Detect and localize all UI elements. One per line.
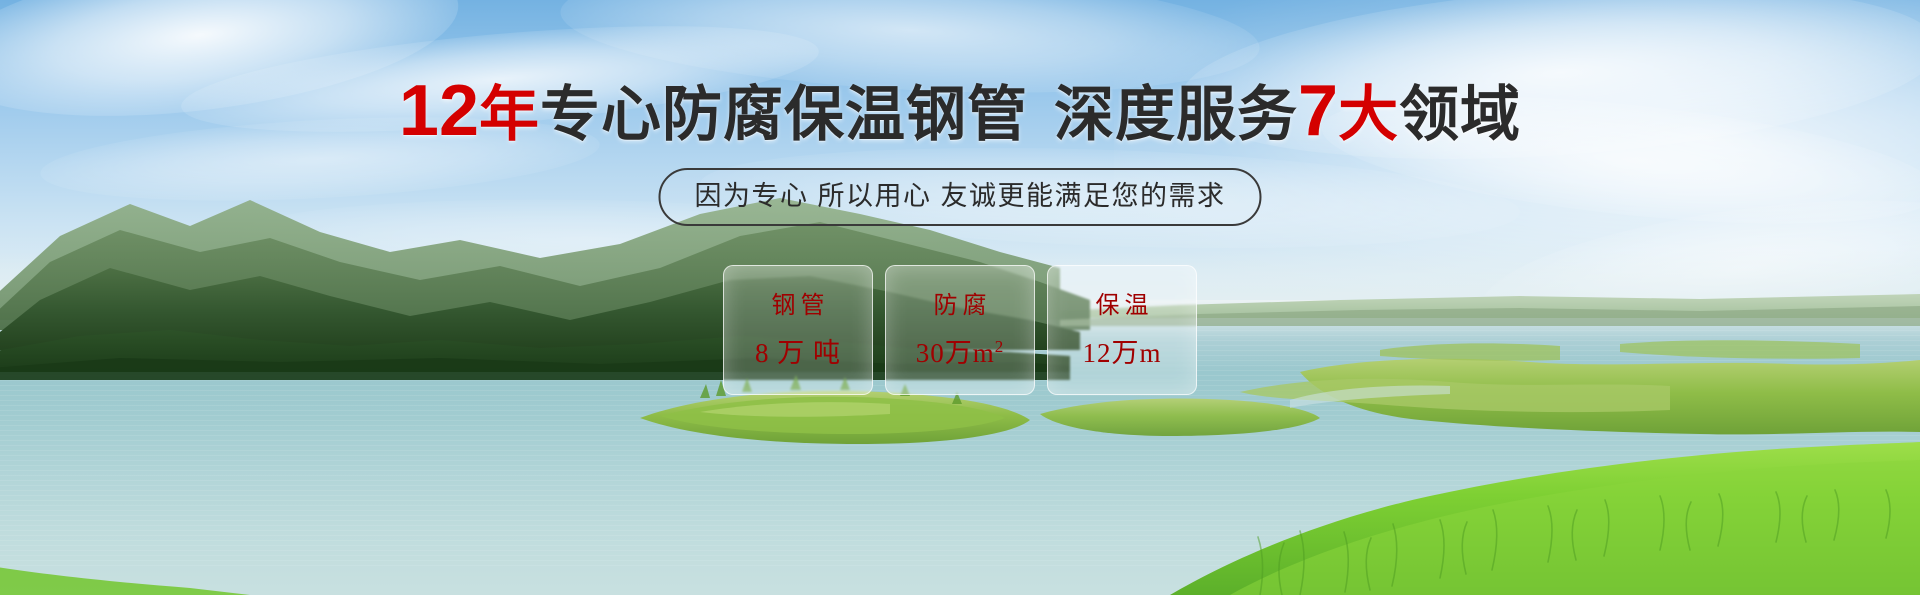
stat-card-value-text: 8 万 吨 [755,338,841,368]
headline-fields-unit: 大 [1338,81,1399,148]
stat-card-value: 30万m2 [916,337,1005,369]
stat-card-steel-pipe[interactable]: 钢管 8 万 吨 [723,265,873,395]
stat-card-title: 防腐 [929,291,992,321]
stat-card-value: 12万m [1082,337,1161,369]
stat-card-title: 保温 [1091,291,1154,321]
stat-card-title: 钢管 [767,291,830,321]
stat-card-value: 8 万 吨 [755,337,841,369]
stat-card-value-text: 30万m [916,338,995,368]
headline-part-one: 专心防腐保温钢管 [540,81,1028,148]
banner-subtitle-pill: 因为专心 所以用心 友诚更能满足您的需求 [658,168,1261,226]
banner-headline: 12年专心防腐保温钢管深度服务7大领域 [0,78,1920,148]
hero-banner: 12年专心防腐保温钢管深度服务7大领域 因为专心 所以用心 友诚更能满足您的需求… [0,0,1920,595]
headline-part-three: 领域 [1399,81,1521,148]
banner-subtitle-text: 因为专心 所以用心 友诚更能满足您的需求 [694,181,1225,211]
headline-fields-number: 7 [1298,71,1338,151]
headline-years-unit: 年 [479,81,540,148]
headline-part-two: 深度服务 [1054,81,1298,148]
stat-card-value-sup: 2 [995,337,1005,356]
stat-card-insulation[interactable]: 保温 12万m [1047,265,1197,395]
headline-years-number: 12 [399,71,479,151]
stat-card-anticorrosion[interactable]: 防腐 30万m2 [885,265,1035,395]
banner-content: 12年专心防腐保温钢管深度服务7大领域 因为专心 所以用心 友诚更能满足您的需求… [0,0,1920,595]
stat-cards: 钢管 8 万 吨 防腐 30万m2 保温 12万m [723,265,1197,395]
stat-card-value-text: 12万m [1082,338,1161,368]
